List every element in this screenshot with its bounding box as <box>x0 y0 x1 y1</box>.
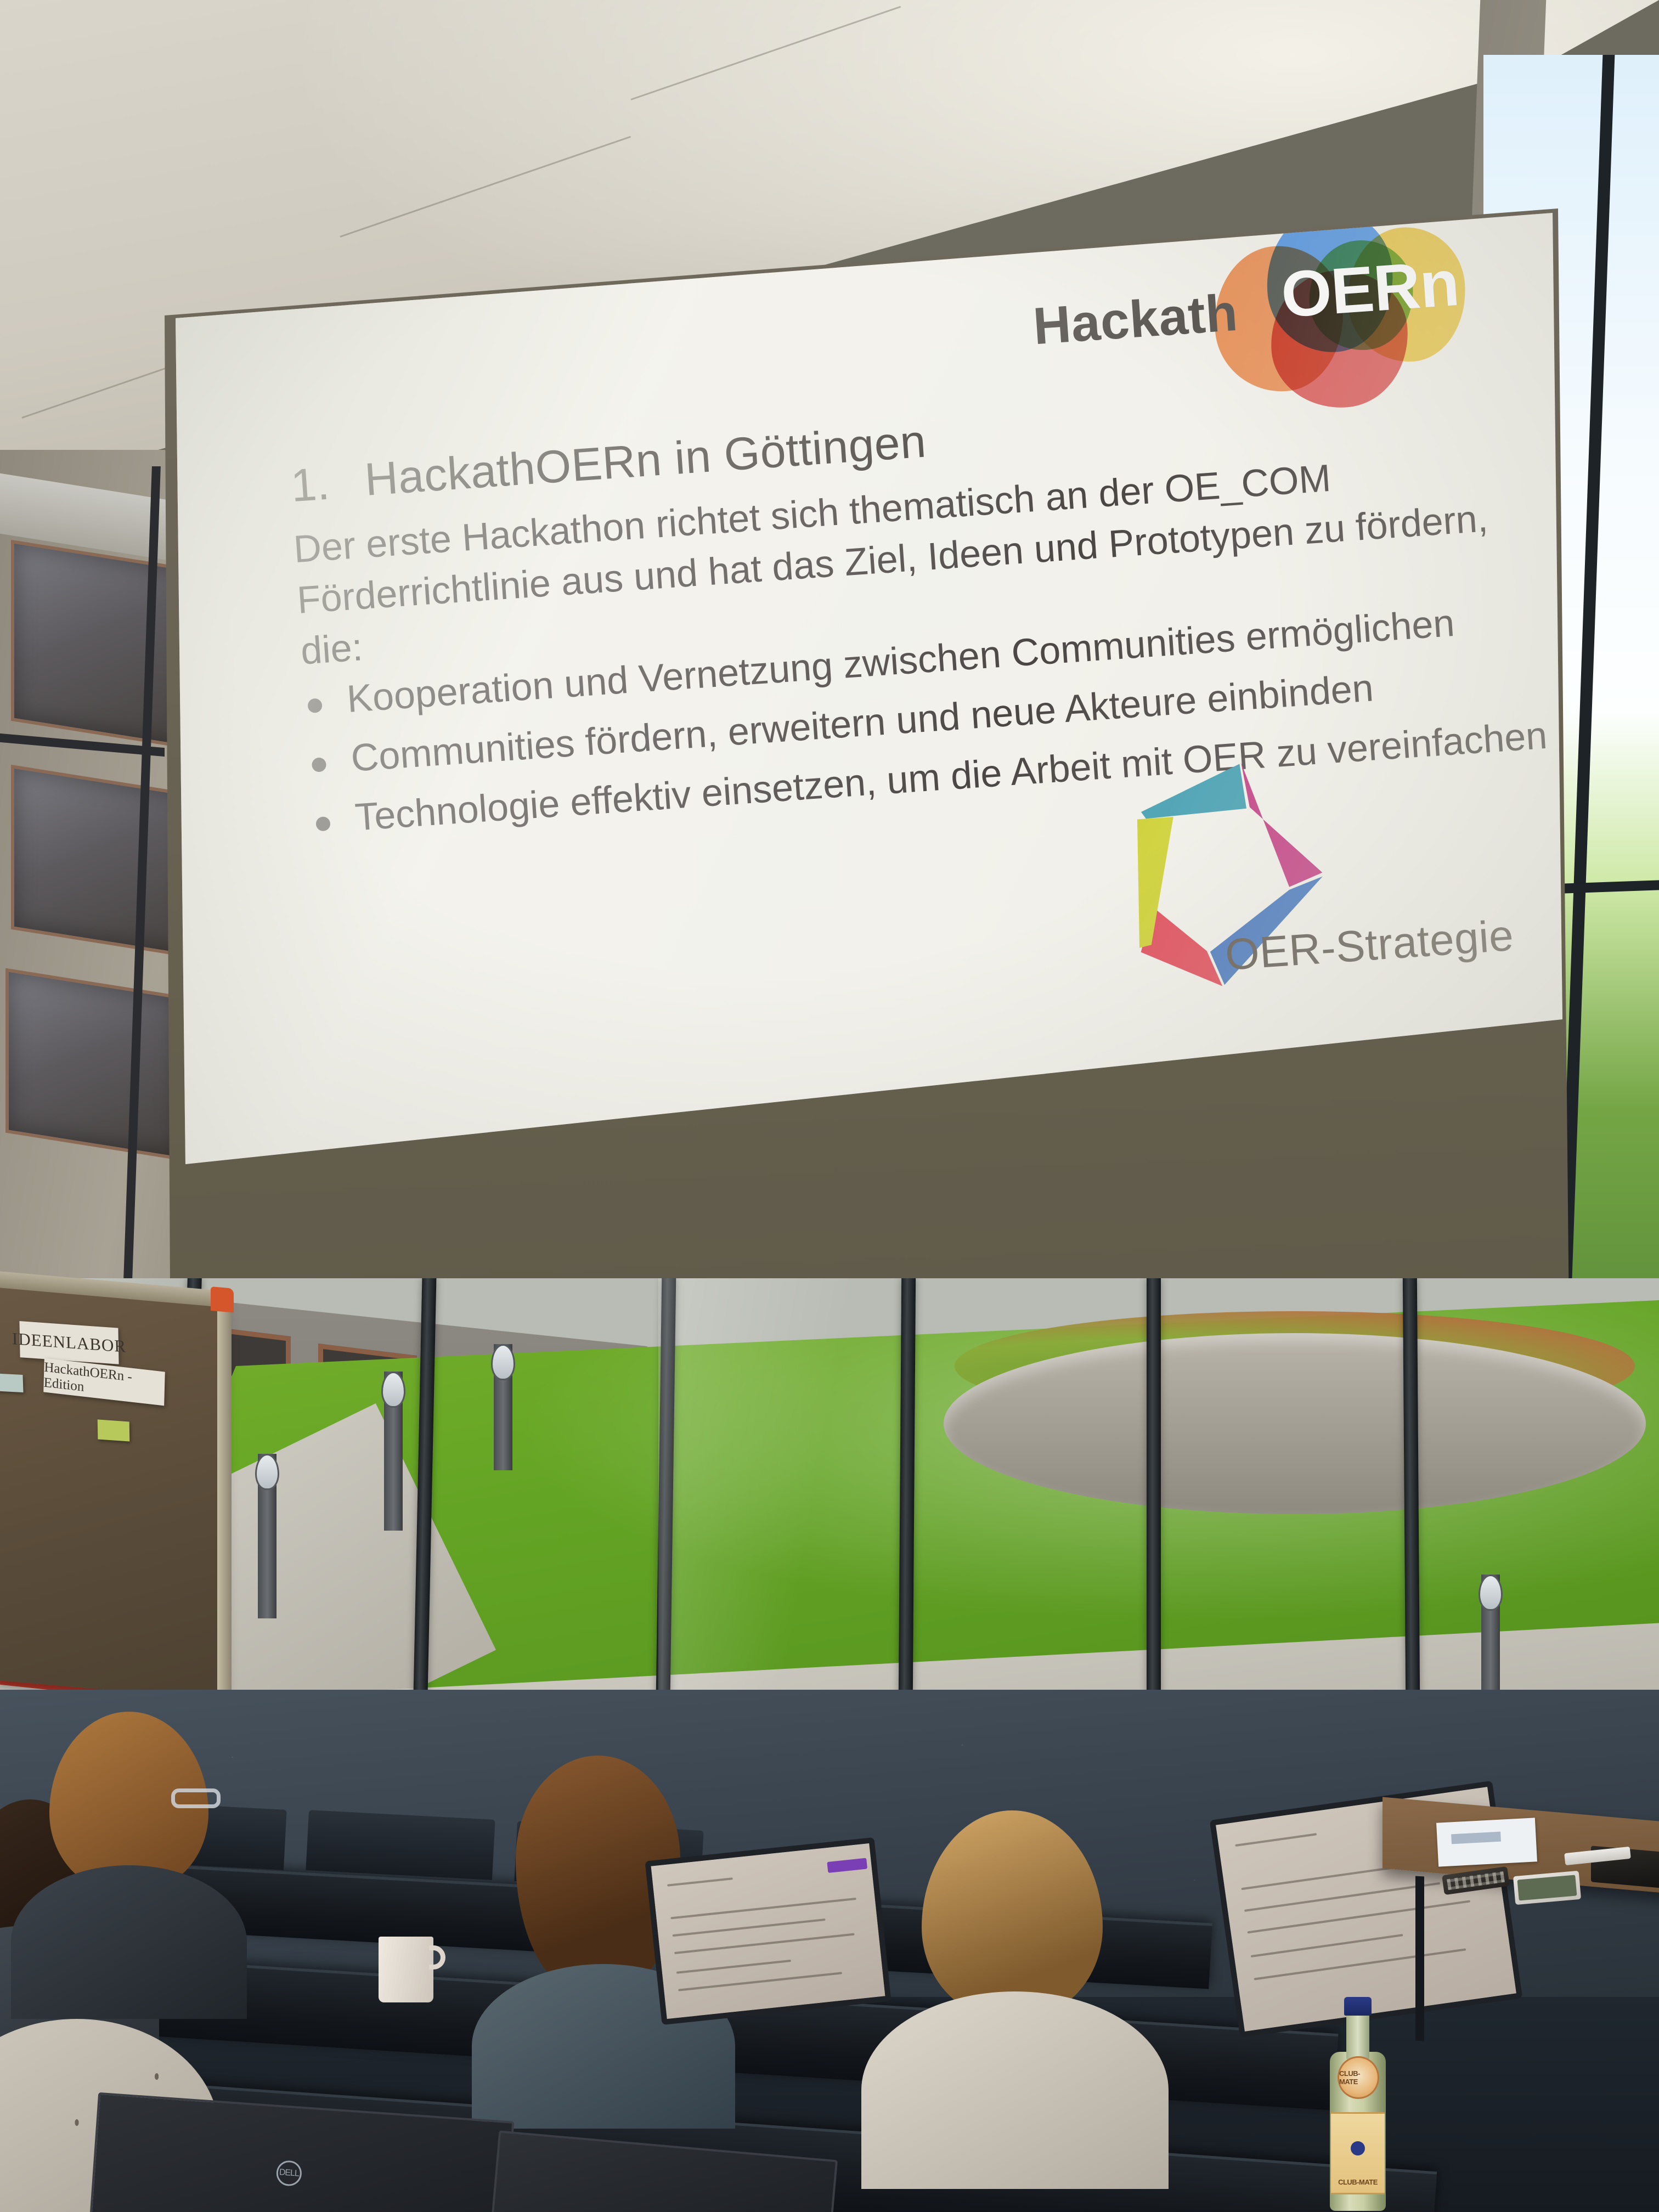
seat-back <box>306 1810 495 1880</box>
bottle-neck <box>1346 2011 1369 2061</box>
club-mate-bottle: CLUB-MATE CLUB-MATE <box>1328 1997 1388 2211</box>
slide-number: 1. <box>289 457 331 513</box>
hackathoern-logo: Hackath OERn <box>1026 208 1531 396</box>
coffee-mug <box>379 1937 433 2002</box>
desk-phone[interactable] <box>1513 1871 1581 1905</box>
photo-scene: 1. HackathOERn in Göttingen Der erste Ha… <box>0 0 1659 2212</box>
lamp-head <box>255 1454 279 1490</box>
pinboard-sign-ideenlabor: IDEENLABOR <box>19 1321 119 1364</box>
laptop-open-screen[interactable] <box>645 1837 891 2025</box>
lamp-head <box>491 1344 515 1380</box>
bottle-cap <box>1344 1997 1372 2016</box>
bottle-brand-neck: CLUB-MATE <box>1339 2069 1378 2086</box>
screen-content-line <box>676 1960 791 1974</box>
screen-content-line <box>1254 1948 1466 1980</box>
remote-buttons <box>1447 1871 1505 1890</box>
screen-content-line <box>674 1933 855 1954</box>
bollard-lamp <box>258 1454 276 1618</box>
bollard-lamp <box>384 1372 403 1531</box>
dell-logo: DELL <box>275 2160 302 2187</box>
sticky-note <box>98 1419 130 1441</box>
bottle-main-label: CLUB-MATE <box>1331 2112 1385 2194</box>
screen-content-line <box>678 1972 842 1991</box>
pinboard-corner-cap <box>211 1286 234 1313</box>
pinboard-sign-edition: HackathOERn - Edition <box>43 1358 165 1406</box>
shoulders <box>861 1991 1169 2189</box>
bollard-lamp <box>494 1344 512 1470</box>
pinboard: IDEENLABOR HackathOERn - Edition <box>0 1285 219 1700</box>
paper-print-block <box>1451 1832 1501 1844</box>
screen-content-line <box>1244 1882 1440 1912</box>
screen-content-line <box>667 1877 733 1887</box>
triangle-teal <box>1138 764 1247 819</box>
lamp-head <box>381 1372 405 1408</box>
lamp-head <box>1479 1575 1503 1611</box>
eyeglasses <box>171 1788 221 1808</box>
screen-content-line <box>1235 1833 1317 1847</box>
triangle-magenta <box>1241 758 1323 890</box>
facade-window <box>5 968 181 1161</box>
projected-slide: 1. HackathOERn in Göttingen Der erste Ha… <box>165 208 1569 1174</box>
phone-screen <box>1517 1875 1577 1900</box>
logo-word-hackath: Hackath <box>1031 283 1240 357</box>
shoulders <box>11 1865 247 2019</box>
paper-sheet <box>1436 1818 1537 1866</box>
screen-content-line <box>670 1898 856 1920</box>
pinboard-frame <box>217 1290 232 1708</box>
screen-content-line <box>673 1918 826 1937</box>
projection-screen: 1. HackathOERn in Göttingen Der erste Ha… <box>165 208 1569 1404</box>
screen-content-line <box>1251 1934 1403 1957</box>
circular-planter <box>944 1333 1646 1514</box>
screen-accent-button[interactable] <box>827 1858 867 1873</box>
oer-strategie-logo: OER-Strategie <box>1097 707 1536 1064</box>
sticky-note <box>0 1373 24 1392</box>
bottle-neck-label: CLUB-MATE <box>1338 2056 1379 2099</box>
desk-leg <box>1415 1876 1424 2041</box>
logo-word-oern: OERn <box>1279 246 1461 332</box>
bottle-emblem <box>1351 2141 1365 2155</box>
bottle-brand-main: CLUB-MATE <box>1331 2178 1385 2186</box>
